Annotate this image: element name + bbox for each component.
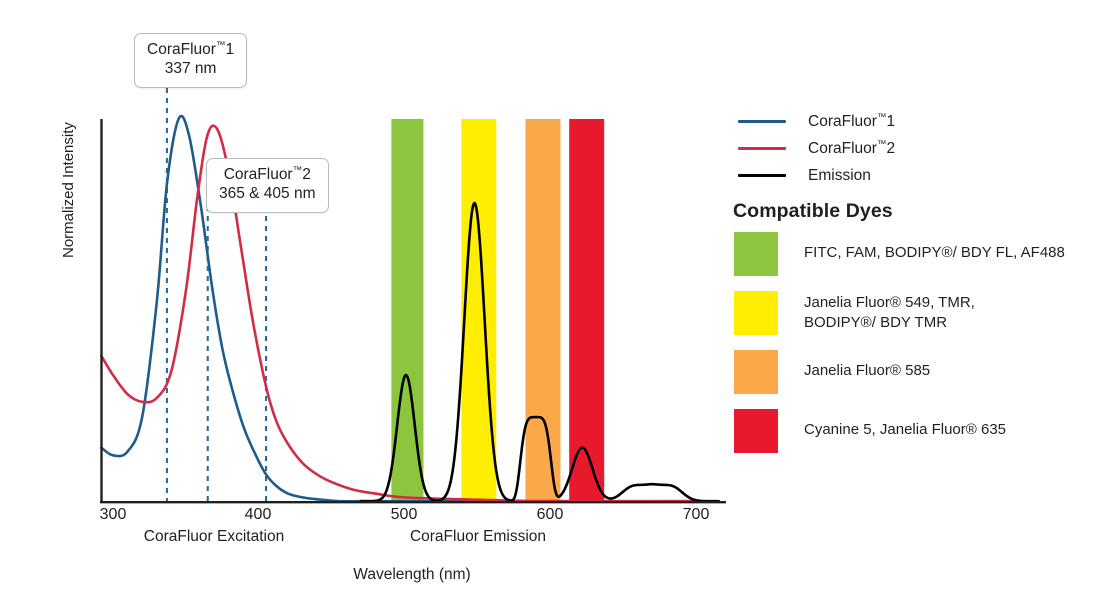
dye-color-swatch-red (734, 409, 778, 453)
x-tick-400: 400 (245, 506, 272, 524)
callout-cf2-line1: CoraFluor™2 (219, 166, 316, 185)
callout-corafluor-2: CoraFluor™2 365 & 405 nm (206, 158, 329, 213)
legend-line-swatch-corafluor-1 (738, 120, 786, 123)
chart-panel: CoraFluor™1 337 nm CoraFluor™2 365 & 405… (0, 0, 730, 612)
x-axis-title: Wavelength (nm) (353, 566, 470, 584)
dye-band (461, 119, 496, 501)
dye-label-green: FITC, FAM, BODIPY®/ BDY FL, AF488 (804, 232, 1065, 263)
legend-item-corafluor-1: CoraFluor™1 (732, 108, 1108, 135)
legend-item-emission: Emission (732, 162, 1108, 189)
x-tick-700: 700 (683, 506, 710, 524)
x-tick-600: 600 (537, 506, 564, 524)
legend-line-swatch-corafluor-2 (738, 147, 786, 150)
region-label-excitation: CoraFluor Excitation (144, 528, 284, 546)
compatible-dyes-heading: Compatible Dyes (733, 200, 893, 223)
callout-cf1-line2: 337 nm (147, 60, 234, 79)
dye-band-group (391, 119, 604, 501)
series-legend: CoraFluor™1 CoraFluor™2 Emission (732, 108, 1108, 189)
dye-color-swatch-green (734, 232, 778, 276)
legend-line-swatch-emission (738, 174, 786, 177)
callout-cf1-line1: CoraFluor™1 (147, 41, 234, 60)
dye-label-orange: Janelia Fluor® 585 (804, 350, 930, 381)
dye-list-item: FITC, FAM, BODIPY®/ BDY FL, AF488 (730, 232, 1110, 276)
region-label-emission: CoraFluor Emission (410, 528, 546, 546)
figure-root: CoraFluor™1 337 nm CoraFluor™2 365 & 405… (0, 0, 1110, 612)
dye-list-item: Janelia Fluor® 585 (730, 350, 1110, 394)
x-tick-300: 300 (100, 506, 127, 524)
dye-label-yellow: Janelia Fluor® 549, TMR, BODIPY®/ BDY TM… (804, 291, 975, 334)
dye-list-item: Cyanine 5, Janelia Fluor® 635 (730, 409, 1110, 453)
dye-band (525, 119, 560, 501)
dye-label-yellow-line2: BODIPY®/ BDY TMR (804, 313, 975, 333)
legend-item-corafluor-2: CoraFluor™2 (732, 135, 1108, 162)
dye-color-swatch-yellow (734, 291, 778, 335)
legend-label-corafluor-2: CoraFluor™2 (808, 140, 895, 158)
dye-color-swatch-orange (734, 350, 778, 394)
legend-panel: CoraFluor™1 CoraFluor™2 Emission Compati… (730, 0, 1110, 612)
legend-label-emission: Emission (808, 167, 871, 185)
legend-label-corafluor-1: CoraFluor™1 (808, 113, 895, 131)
callout-cf2-line2: 365 & 405 nm (219, 185, 316, 204)
x-tick-500: 500 (391, 506, 418, 524)
dye-list-item: Janelia Fluor® 549, TMR, BODIPY®/ BDY TM… (730, 291, 1110, 335)
dye-label-red: Cyanine 5, Janelia Fluor® 635 (804, 409, 1006, 440)
callout-corafluor-1: CoraFluor™1 337 nm (134, 33, 247, 88)
dye-band (569, 119, 604, 501)
compatible-dyes-list: FITC, FAM, BODIPY®/ BDY FL, AF488 Janeli… (730, 232, 1110, 468)
dye-label-yellow-line1: Janelia Fluor® 549, TMR, (804, 293, 975, 313)
excitation-marker-group (167, 88, 266, 501)
y-axis-title: Normalized Intensity (60, 238, 77, 258)
